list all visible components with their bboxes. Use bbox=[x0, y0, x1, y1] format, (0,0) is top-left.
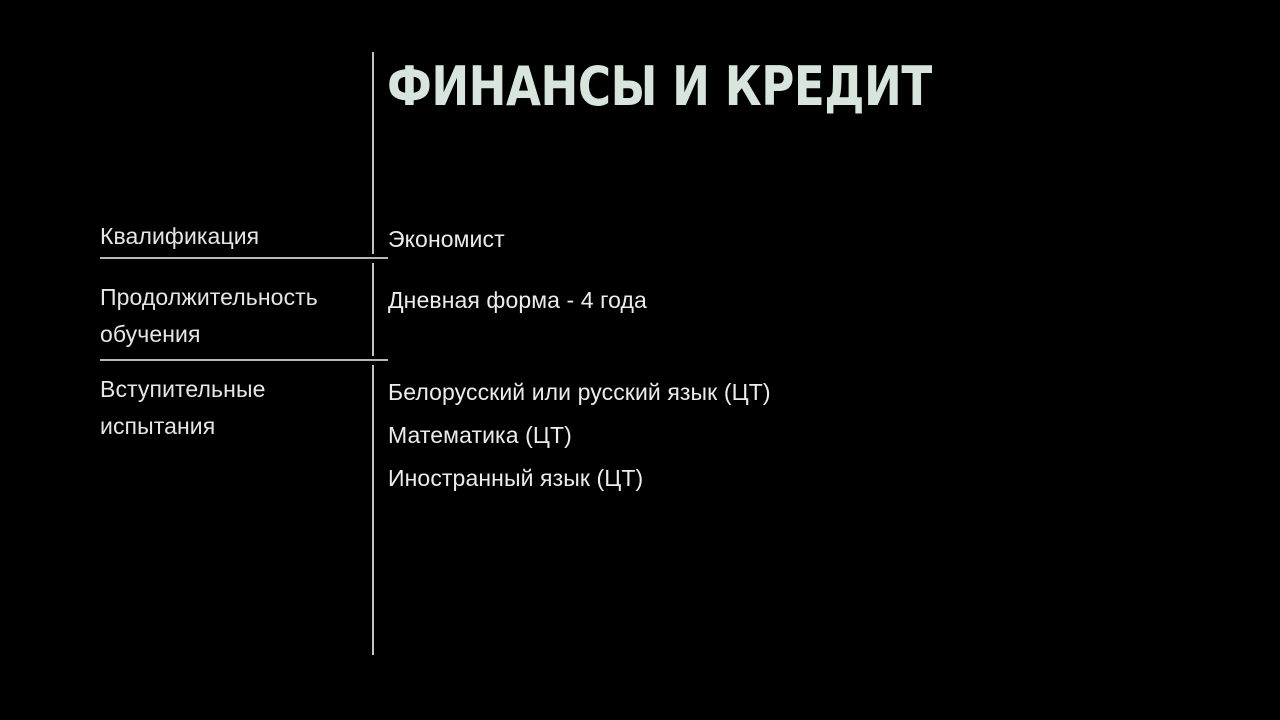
slide-canvas: ФИНАНСЫ И КРЕДИТ Квалификация Экономист … bbox=[0, 0, 1280, 720]
row-label-entrance-exams: Вступительные испытания bbox=[100, 371, 368, 445]
value-line: Иностранный язык (ЦТ) bbox=[388, 457, 1248, 500]
value-line: Дневная форма - 4 года bbox=[388, 279, 1248, 322]
row-label-qualification: Квалификация bbox=[100, 218, 368, 255]
value-line: Математика (ЦТ) bbox=[388, 414, 1248, 457]
row-value-qualification: Экономист bbox=[388, 218, 1248, 261]
row-divider-2 bbox=[100, 359, 388, 361]
value-line: Белорусский или русский язык (ЦТ) bbox=[388, 371, 1248, 414]
vertical-divider bbox=[372, 52, 374, 655]
row-divider-1 bbox=[100, 257, 388, 259]
page-title: ФИНАНСЫ И КРЕДИТ bbox=[387, 58, 932, 116]
row-label-duration: Продолжительность обучения bbox=[100, 279, 368, 353]
row-value-entrance-exams: Белорусский или русский язык (ЦТ) Матема… bbox=[388, 371, 1248, 500]
value-line: Экономист bbox=[388, 218, 1248, 261]
row-value-duration: Дневная форма - 4 года bbox=[388, 279, 1248, 322]
